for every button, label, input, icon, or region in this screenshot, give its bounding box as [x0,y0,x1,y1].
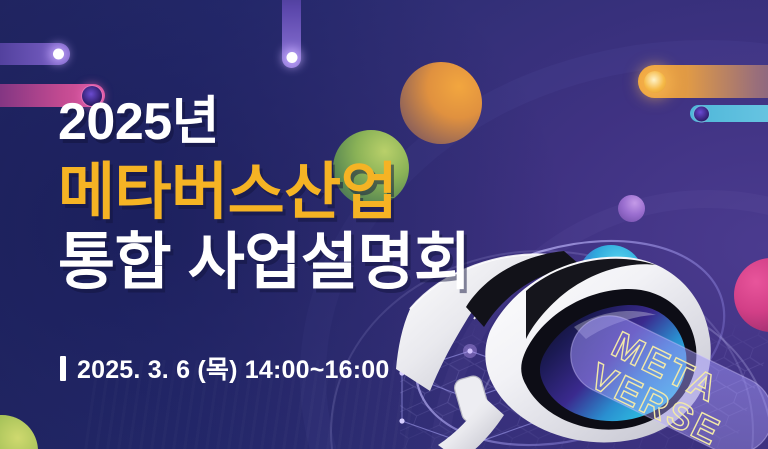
schedule-marker-icon [60,356,66,381]
schedule-text: 2025. 3. 6 (목) 14:00~16:00 [77,350,389,386]
metaverse-seminar-banner: META VERSE 2025년 메타버스산업 통합 사업설명회 2025. 3… [0,0,768,449]
comet-head-icon [53,49,64,60]
comet-trail-orange-right [638,65,768,98]
headline-line-year: 2025년 [58,96,471,148]
sphere-lime [0,415,38,449]
comet-head-icon [286,52,297,63]
headline-line-session: 통합 사업설명회 [58,232,471,294]
sphere-violet [618,195,645,222]
schedule-row: 2025. 3. 6 (목) 14:00~16:00 [60,350,389,386]
comet-head-icon [644,71,666,93]
comet-trail-purple-left [0,43,70,65]
comet-trail-cyan-right [690,105,768,122]
comet-head-icon [693,105,710,122]
headline-line-industry: 메타버스산업 [58,162,471,224]
comet-trail-purple-vertical [282,0,301,68]
headline-block: 2025년 메타버스산업 통합 사업설명회 [58,96,471,294]
